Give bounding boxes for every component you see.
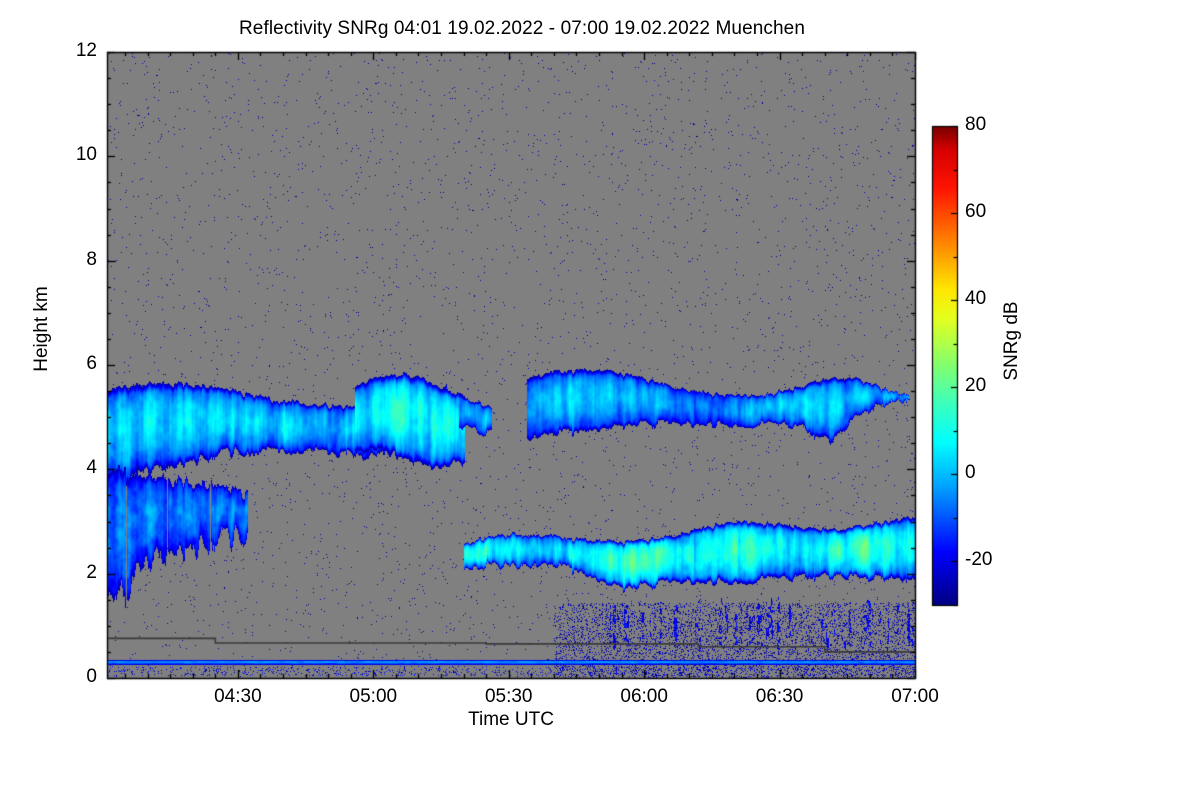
colorbar-tick-label: 40 [965, 288, 1025, 310]
y-tick-label: 4 [37, 457, 97, 479]
x-tick-label: 06:30 [730, 686, 830, 708]
x-tick-label: 05:00 [323, 686, 423, 708]
y-axis-label: Height km [31, 249, 53, 409]
colorbar-tick-label: 80 [965, 114, 1025, 136]
colorbar-tick-label: 0 [965, 462, 1025, 484]
y-tick-label: 12 [37, 40, 97, 62]
x-tick-label: 05:30 [459, 686, 559, 708]
x-tick-label: 04:30 [188, 686, 288, 708]
y-tick-label: 6 [37, 353, 97, 375]
colorbar-tick-label: 60 [965, 201, 1025, 223]
colorbar-label: SNRg dB [1001, 241, 1023, 441]
y-tick-label: 2 [37, 562, 97, 584]
page-title: Reflectivity SNRg 04:01 19.02.2022 - 07:… [0, 18, 1044, 40]
y-tick-label: 0 [37, 666, 97, 688]
y-tick-label: 8 [37, 249, 97, 271]
radar-reflectivity-figure: Reflectivity SNRg 04:01 19.02.2022 - 07:… [0, 0, 1200, 800]
x-tick-label: 06:00 [594, 686, 694, 708]
x-axis-label: Time UTC [107, 709, 915, 731]
colorbar-tick-label: -20 [965, 549, 1025, 571]
y-tick-label: 10 [37, 144, 97, 166]
colorbar-tick-label: 20 [965, 375, 1025, 397]
x-tick-label: 07:00 [865, 686, 965, 708]
